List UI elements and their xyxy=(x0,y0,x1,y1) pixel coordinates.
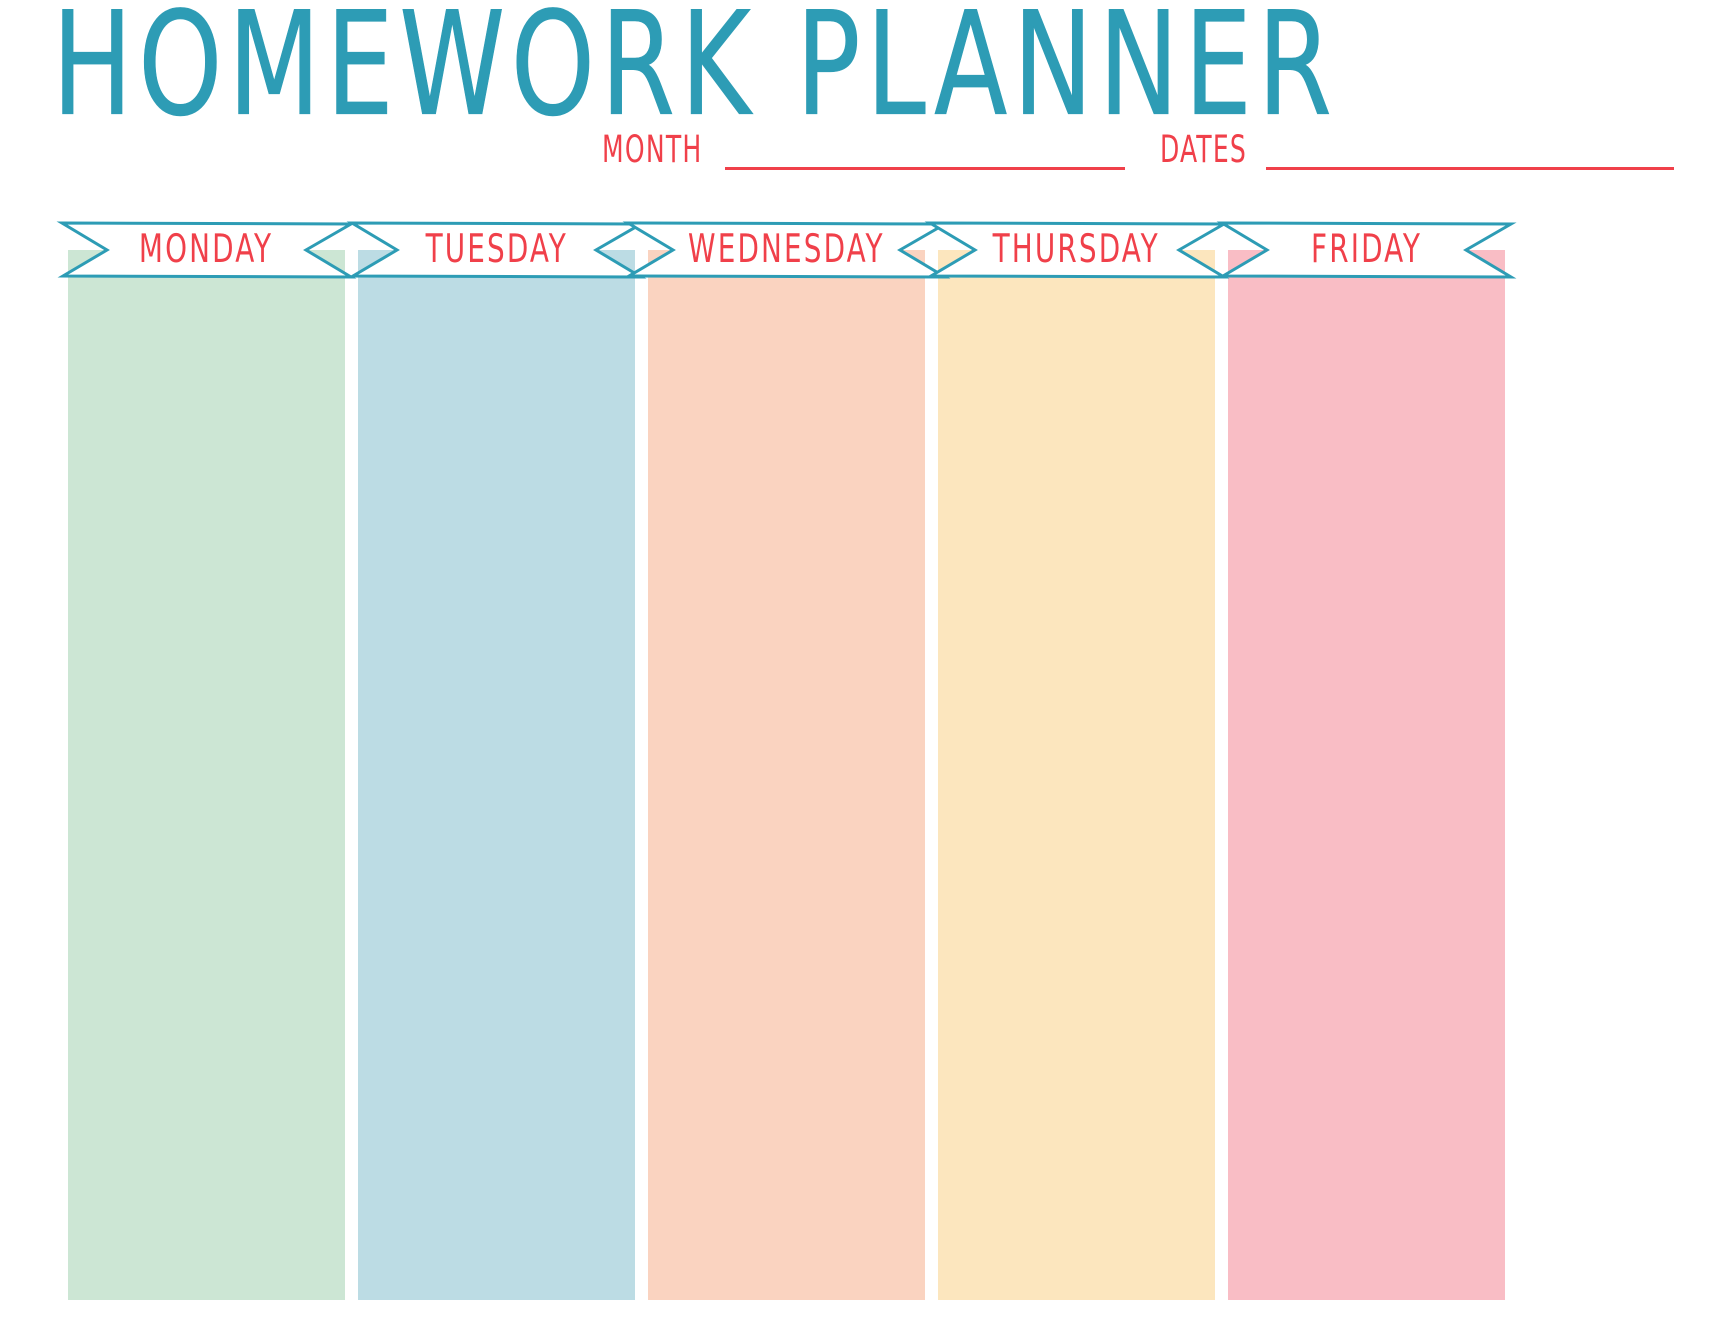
day-banner-wednesday: WEDNESDAY xyxy=(627,222,946,278)
day-column-thursday xyxy=(938,250,1215,1300)
banner-shape-friday xyxy=(1221,222,1512,278)
day-column-monday xyxy=(68,250,345,1300)
day-banner-friday: FRIDAY xyxy=(1221,222,1512,278)
day-column-wednesday xyxy=(648,250,925,1300)
day-notes-area-friday[interactable] xyxy=(1228,250,1505,1300)
day-banner-tuesday: TUESDAY xyxy=(351,222,642,278)
day-columns: MONDAYTUESDAYWEDNESDAYTHURSDAYFRIDAY xyxy=(0,0,1736,1332)
day-notes-area-wednesday[interactable] xyxy=(648,250,925,1300)
day-notes-area-monday[interactable] xyxy=(68,250,345,1300)
day-banner-thursday: THURSDAY xyxy=(929,222,1225,278)
banner-shape-monday xyxy=(61,222,352,278)
day-notes-area-tuesday[interactable] xyxy=(358,250,635,1300)
day-column-friday xyxy=(1228,250,1505,1300)
banner-shape-tuesday xyxy=(351,222,642,278)
banner-shape-thursday xyxy=(929,222,1225,278)
day-banner-monday: MONDAY xyxy=(61,222,352,278)
day-column-tuesday xyxy=(358,250,635,1300)
day-notes-area-thursday[interactable] xyxy=(938,250,1215,1300)
banner-shape-wednesday xyxy=(627,222,946,278)
